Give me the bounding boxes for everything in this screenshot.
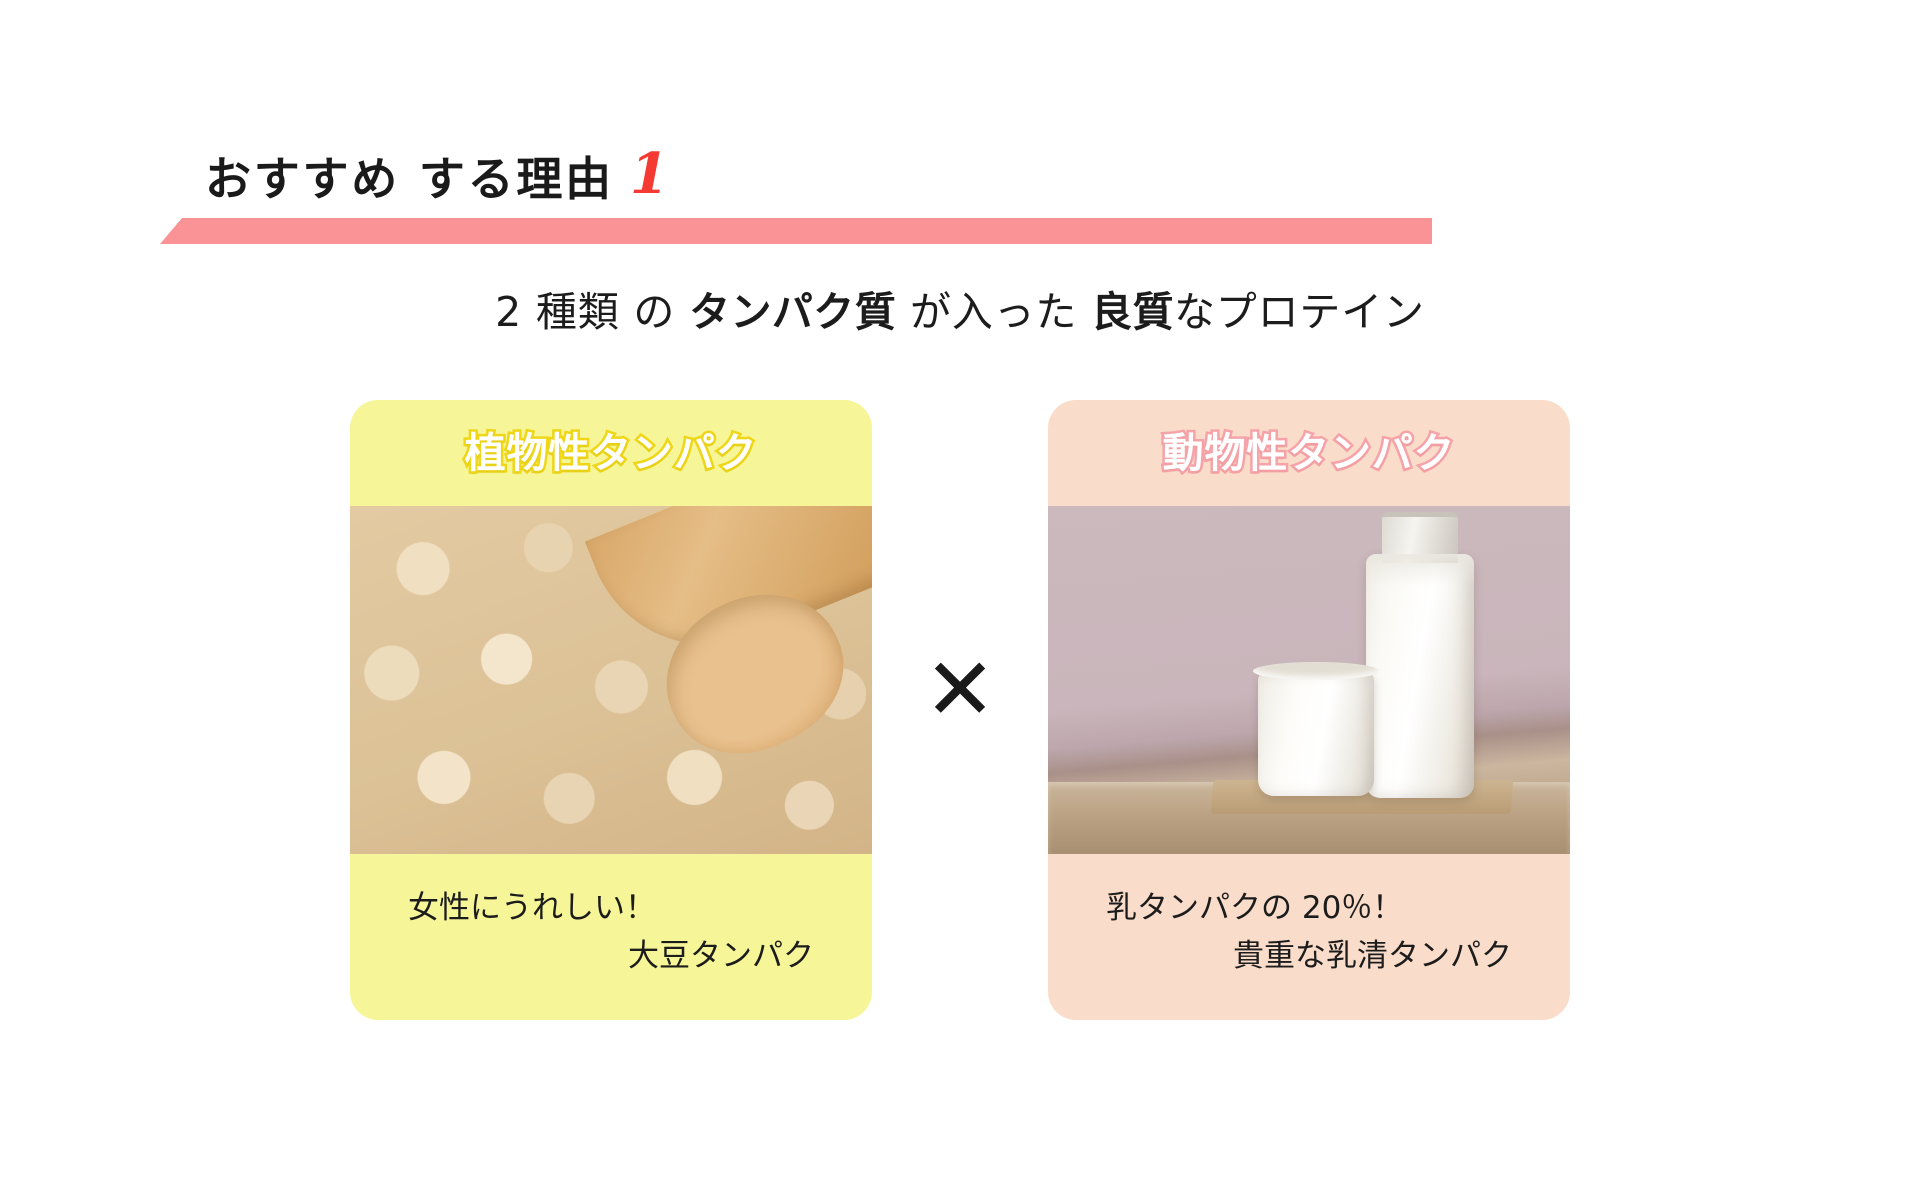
card-plant-header: 植物性タンパク — [350, 400, 872, 506]
infographic-page: おすすめ する理由 1 2 種類 の タンパク質 が入った 良質なプロテイン 植… — [0, 0, 1920, 1204]
card-plant-caption-line-1: 女性にうれしい！ — [394, 884, 814, 932]
card-plant-header-label: 植物性タンパク — [465, 433, 758, 474]
card-animal-protein: 動物性タンパク 乳タンパクの 20％！ 貴重な乳清タンパク — [1048, 400, 1570, 1020]
card-animal-caption: 乳タンパクの 20％！ 貴重な乳清タンパク — [1048, 854, 1570, 1020]
card-plant-protein: 植物性タンパク 女性にうれしい！ 大豆タンパク — [350, 400, 872, 1020]
card-animal-caption-line-2: 貴重な乳清タンパク — [1092, 932, 1512, 980]
heading-row: おすすめ する理由 1 — [160, 128, 1780, 202]
card-animal-header-label: 動物性タンパク — [1163, 433, 1456, 474]
reason-number-badge: 1 — [630, 146, 668, 202]
milk-photo — [1048, 506, 1570, 854]
protein-cards-row: 植物性タンパク 女性にうれしい！ 大豆タンパク ✕ 動物性タンパク 乳タンパクの… — [0, 400, 1920, 1020]
subtitle-part-1: 2 種類 の — [495, 288, 689, 336]
subtitle-part-4-emphasis: 良質 — [1091, 288, 1174, 336]
subtitle-part-5: なプロテイン — [1174, 288, 1425, 336]
card-plant-caption: 女性にうれしい！ 大豆タンパク — [350, 854, 872, 1020]
milk-glass-icon — [1258, 672, 1374, 796]
card-animal-caption-line-1: 乳タンパクの 20％！ — [1092, 884, 1512, 932]
subtitle-part-3: が入った — [896, 288, 1091, 336]
soybeans-photo — [350, 506, 872, 854]
card-animal-header: 動物性タンパク — [1048, 400, 1570, 506]
subtitle: 2 種類 の タンパク質 が入った 良質なプロテイン — [0, 288, 1920, 337]
heading-underline-bar — [160, 218, 1432, 244]
card-plant-caption-line-2: 大豆タンパク — [394, 932, 814, 980]
multiply-icon: ✕ — [872, 647, 1048, 773]
heading-section: おすすめ する理由 1 — [160, 128, 1780, 258]
subtitle-part-2-emphasis: タンパク質 — [689, 288, 896, 336]
milk-bottle-icon — [1366, 554, 1474, 798]
page-title: おすすめ する理由 — [205, 156, 614, 202]
